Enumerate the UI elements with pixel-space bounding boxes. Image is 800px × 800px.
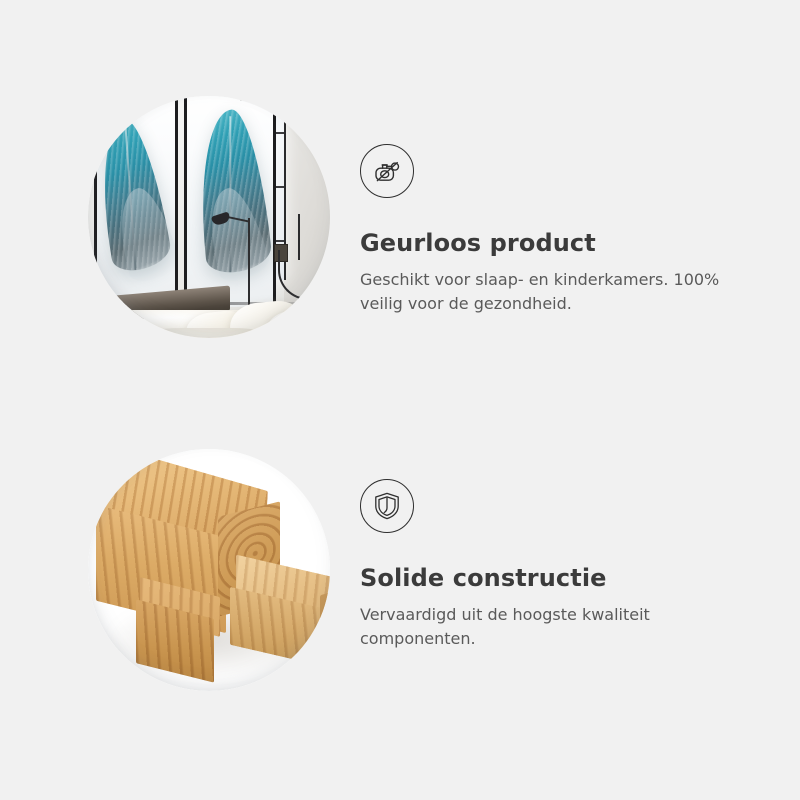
- wall-hook: [298, 214, 300, 260]
- wall-art-panel-left: [94, 96, 178, 307]
- lamp-pole: [248, 218, 250, 310]
- block-side-face: [320, 587, 330, 658]
- shield-icon: [360, 479, 414, 533]
- feature-image-bedroom-feather-wall-art: [88, 96, 330, 338]
- wall-art-panel-middle: [184, 96, 276, 307]
- feature-heading: Solide constructie: [360, 563, 760, 593]
- feature-content: Geurloos product Geschikt voor slaap- en…: [360, 144, 760, 316]
- feature-list: Geurloos product Geschikt voor slaap- en…: [0, 0, 800, 800]
- no-perfume-icon: [360, 144, 414, 198]
- feature-image-wooden-blocks: [88, 449, 330, 691]
- feature-block-solid-construction: Solide constructie Vervaardigd uit de ho…: [0, 391, 800, 751]
- bedroom-scene: [88, 96, 330, 338]
- feature-block-odourless-product: Geurloos product Geschikt voor slaap- en…: [0, 38, 800, 398]
- feature-heading: Geurloos product: [360, 228, 760, 258]
- feature-content: Solide constructie Vervaardigd uit de ho…: [360, 479, 760, 651]
- feature-description: Vervaardigd uit de hoogste kwaliteit com…: [360, 603, 752, 651]
- feature-description: Geschikt voor slaap- en kinderkamers. 10…: [360, 268, 752, 316]
- wooden-blocks-scene: [88, 449, 330, 691]
